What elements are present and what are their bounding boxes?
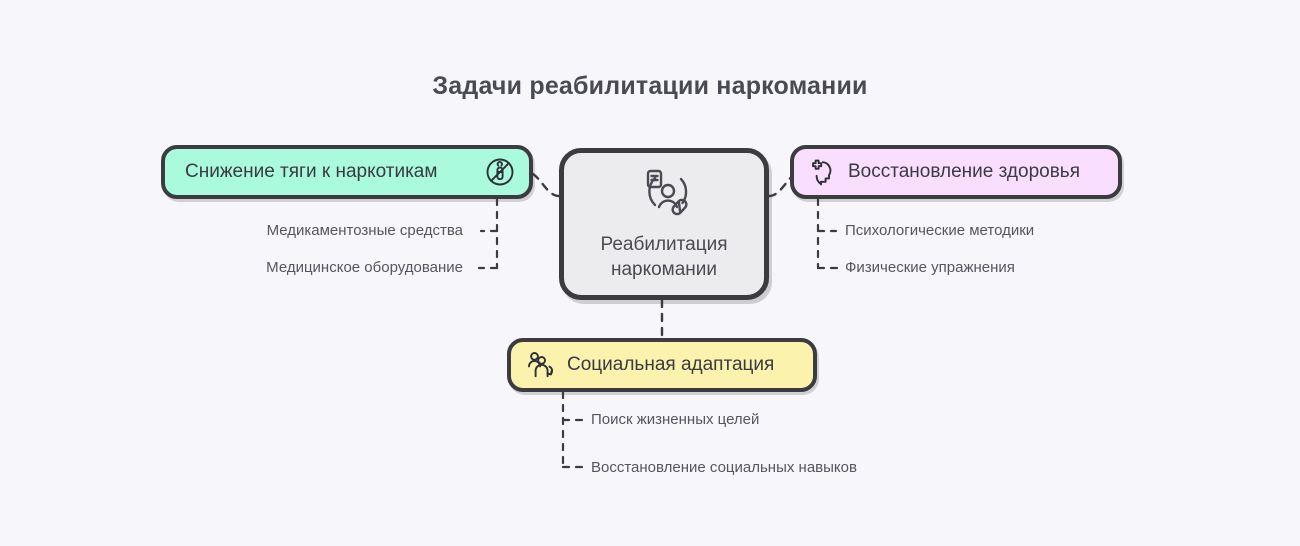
node-branch-bottom-label: Социальная адаптация <box>567 354 774 376</box>
no-drugs-icon <box>485 157 515 187</box>
leaf-left-2: Медицинское оборудование <box>266 259 463 276</box>
head-medical-cross-icon <box>808 157 838 187</box>
person-document-pill-icon <box>635 166 693 220</box>
node-center[interactable]: Реабилитациянаркомании <box>559 148 769 300</box>
leaf-bottom-1: Поиск жизненных целей <box>591 411 759 428</box>
people-refresh-icon <box>525 350 557 380</box>
page-title: Задачи реабилитации наркомании <box>0 72 1300 101</box>
leaf-right-1: Психологические методики <box>845 222 1034 239</box>
node-branch-bottom[interactable]: Социальная адаптация <box>507 338 817 392</box>
leaf-right-2: Физические упражнения <box>845 259 1015 276</box>
node-center-label: Реабилитациянаркомании <box>600 232 727 282</box>
connector-center-left <box>533 174 559 196</box>
node-branch-left-label: Снижение тяги к наркотикам <box>185 161 437 183</box>
node-branch-left[interactable]: Снижение тяги к наркотикам <box>161 145 533 199</box>
leaf-left-1: Медикаментозные средства <box>267 222 463 239</box>
node-branch-right-label: Восстановление здоровья <box>848 161 1080 183</box>
leaf-bottom-2: Восстановление социальных навыков <box>591 459 857 476</box>
node-branch-right[interactable]: Восстановление здоровья <box>790 145 1122 199</box>
mindmap-canvas: Задачи реабилитации наркомании Реабилита… <box>0 0 1300 546</box>
